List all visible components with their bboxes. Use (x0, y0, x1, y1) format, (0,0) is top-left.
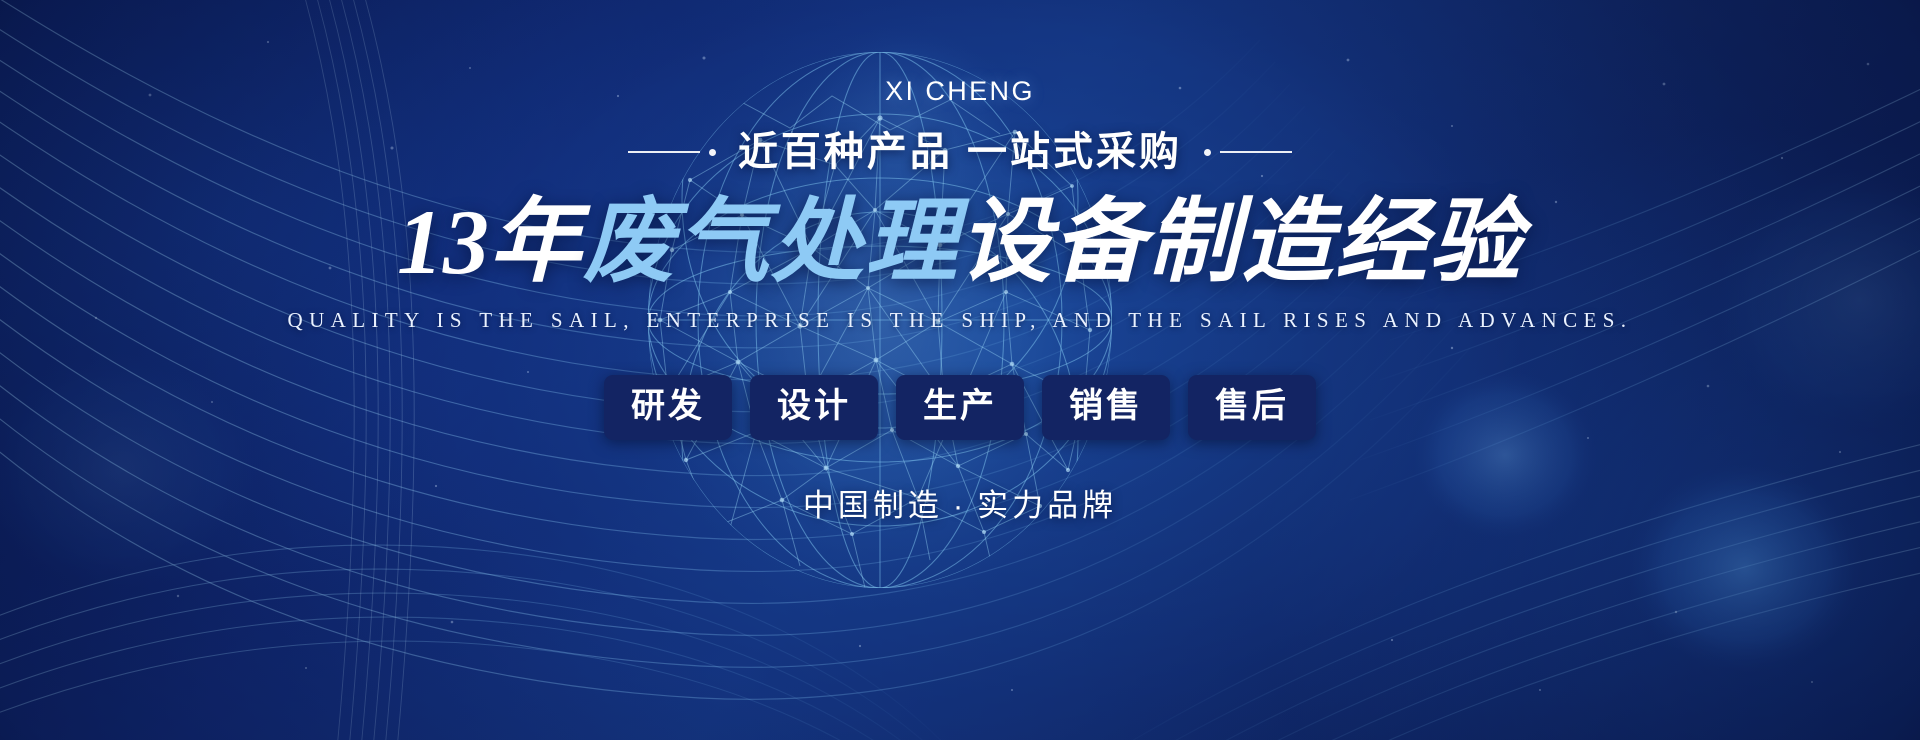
service-badge-list: 研发 设计 生产 销售 售后 (604, 375, 1316, 440)
footer-slogan-right: 实力品牌 (977, 488, 1117, 523)
hero-banner: XI CHENG 近百种产品 一站式采购 13年废气处理设备制造经验 QUALI… (0, 0, 1920, 740)
deco-line-icon (628, 151, 700, 153)
footer-slogan-left: 中国制造 (803, 488, 943, 523)
headline-number-unit: 年 (489, 191, 583, 293)
deco-line-icon (1220, 151, 1292, 153)
decorative-rule-right (1204, 149, 1292, 156)
service-badge[interactable]: 销售 (1042, 375, 1170, 440)
deco-dot-icon (1204, 149, 1211, 156)
headline-number: 13 (397, 191, 489, 293)
headline: 13年废气处理设备制造经验 (397, 191, 1523, 294)
service-badge[interactable]: 研发 (604, 375, 732, 440)
service-badge[interactable]: 售后 (1188, 375, 1316, 440)
footer-separator-dot: · (943, 488, 977, 523)
deco-dot-icon (709, 149, 716, 156)
service-badge[interactable]: 设计 (750, 375, 878, 440)
subtitle-row: 近百种产品 一站式采购 (628, 131, 1292, 173)
banner-content: XI CHENG 近百种产品 一站式采购 13年废气处理设备制造经验 QUALI… (0, 0, 1920, 740)
service-badge[interactable]: 生产 (896, 375, 1024, 440)
footer-slogan: 中国制造·实力品牌 (803, 480, 1117, 525)
decorative-rule-left (628, 149, 716, 156)
brand-name-en: XI CHENG (885, 78, 1035, 105)
headline-accent: 废气处理 (583, 191, 959, 293)
tagline-english: QUALITY IS THE SAIL, ENTERPRISE IS THE S… (288, 308, 1633, 333)
subtitle-text: 近百种产品 一站式采购 (738, 131, 1182, 173)
headline-rest: 设备制造经验 (959, 191, 1523, 293)
